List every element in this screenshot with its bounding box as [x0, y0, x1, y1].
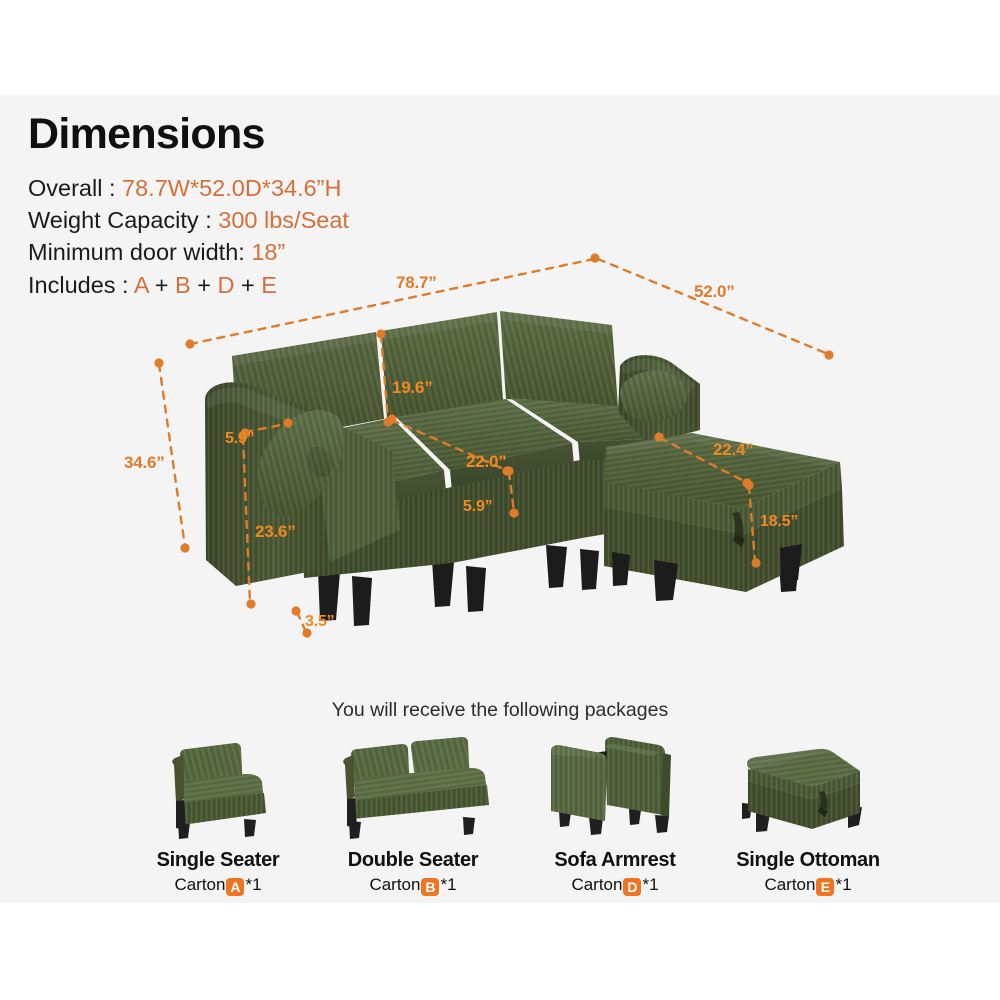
- spec-min-door-width: Minimum door width: 18”: [28, 236, 349, 268]
- package-double-seater: Double Seater CartonB*1: [313, 725, 513, 896]
- carton-qty-a: *1: [245, 875, 261, 894]
- single-ottoman-carton: CartonE*1: [708, 875, 908, 896]
- single-ottoman-image: [708, 725, 908, 843]
- include-sep-2: +: [191, 272, 218, 298]
- spec-door-value: 18”: [251, 239, 285, 265]
- carton-qty-b: *1: [440, 875, 456, 894]
- include-part-d: D: [218, 272, 235, 298]
- spec-weight-value: 300 lbs/Seat: [218, 207, 349, 233]
- spec-includes: Includes : A + B + D + E: [28, 269, 349, 301]
- spec-overall: Overall : 78.7W*52.0D*34.6”H: [28, 172, 349, 204]
- legs: [349, 817, 475, 839]
- double-seater-name: Double Seater: [313, 849, 513, 872]
- include-sep-3: +: [234, 272, 261, 298]
- sofa-armrest-carton: CartonD*1: [515, 875, 715, 896]
- package-single-ottoman: Single Ottoman CartonE*1: [708, 725, 908, 896]
- single-seater-image: [118, 725, 318, 843]
- header-block: Dimensions Overall : 78.7W*52.0D*34.6”H …: [28, 113, 349, 301]
- spec-door-label: Minimum door width:: [28, 239, 251, 265]
- single-seater-carton: CartonA*1: [118, 875, 318, 896]
- include-part-a: A: [134, 272, 148, 298]
- carton-word-e: Carton: [764, 875, 815, 894]
- spec-weight-label: Weight Capacity :: [28, 207, 218, 233]
- carton-word-d: Carton: [571, 875, 622, 894]
- carton-word-b: Carton: [369, 875, 420, 894]
- single-ottoman-name: Single Ottoman: [708, 849, 908, 872]
- spec-overall-value: 78.7W*52.0D*34.6”H: [122, 175, 341, 201]
- double-seater-image: [313, 725, 513, 843]
- include-part-e: E: [261, 272, 277, 298]
- carton-word-a: Carton: [174, 875, 225, 894]
- spec-weight-capacity: Weight Capacity : 300 lbs/Seat: [28, 204, 349, 236]
- page-title: Dimensions: [28, 113, 349, 156]
- packages-row: Single Seater CartonA*1: [0, 725, 1000, 895]
- carton-badge-a: A: [226, 878, 244, 896]
- sofa-armrest-name: Sofa Armrest: [515, 849, 715, 872]
- package-single-seater: Single Seater CartonA*1: [118, 725, 318, 896]
- spec-overall-label: Overall :: [28, 175, 122, 201]
- infographic-canvas: Dimensions Overall : 78.7W*52.0D*34.6”H …: [0, 0, 1000, 1000]
- carton-badge-e: E: [816, 878, 834, 896]
- carton-badge-d: D: [623, 878, 641, 896]
- carton-qty-e: *1: [835, 875, 851, 894]
- packages-heading: You will receive the following packages: [0, 699, 1000, 722]
- single-seater-name: Single Seater: [118, 849, 318, 872]
- include-sep-1: +: [148, 272, 175, 298]
- include-part-b: B: [175, 272, 191, 298]
- sofa-armrest-image: [515, 725, 715, 843]
- double-seater-carton: CartonB*1: [313, 875, 513, 896]
- carton-badge-b: B: [421, 878, 439, 896]
- package-sofa-armrest: Sofa Armrest CartonD*1: [515, 725, 715, 896]
- carton-qty-d: *1: [642, 875, 658, 894]
- spec-includes-label: Includes :: [28, 272, 134, 298]
